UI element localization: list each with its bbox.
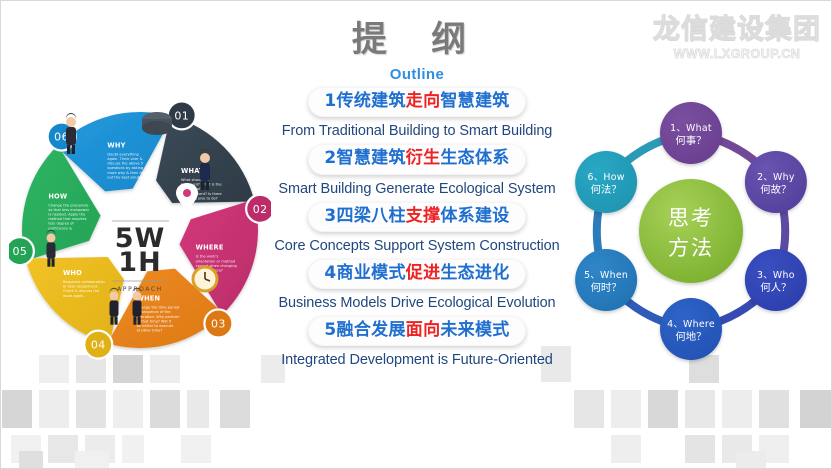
wheel-badge-03: 03 [204, 309, 232, 337]
decorative-block [187, 390, 209, 428]
outline-item-highlight: 走向 [406, 91, 441, 111]
thinking-node-label-en: 5、When [584, 270, 628, 281]
outline-item-suffix: 未来模式 [440, 320, 509, 340]
decorative-block [122, 435, 144, 463]
map-pin-icon [176, 183, 198, 210]
decorative-block [722, 390, 752, 428]
svg-text:HOW: HOW [48, 192, 68, 200]
decorative-block [759, 390, 789, 428]
thinking-node-label-en: 6、How [587, 172, 624, 183]
thinking-node-how[interactable]: 6、How何法？ [575, 151, 637, 213]
thinking-node-label-en: 4、Where [667, 319, 715, 330]
svg-text:or sequence of the: or sequence of the [137, 310, 171, 314]
decorative-block [85, 435, 115, 463]
svg-text:Check & discuss the: Check & discuss the [63, 289, 99, 293]
thinking-node-when[interactable]: 5、When何时？ [575, 249, 637, 311]
svg-text:proficiency &: proficiency & [48, 226, 72, 230]
svg-text:WHO: WHO [63, 269, 82, 277]
slide-canvas: 龙信建设集团 WWW.LXGROUP.CN 提 纲 Outline 1传统建筑走… [0, 0, 832, 469]
outline-item-suffix: 体系建设 [440, 206, 509, 226]
thinking-node-label-cn: 何法？ [591, 183, 622, 196]
outline-item-highlight: 支撑 [406, 206, 441, 226]
thinking-node-label-cn: 何人？ [760, 281, 791, 294]
svg-text:so that less manpower: so that less manpower [48, 208, 89, 212]
thinking-node-label-cn: 何事？ [675, 134, 706, 147]
decorative-block [2, 390, 32, 428]
outline-item-prefix: 5融合发展 [324, 320, 405, 340]
thinking-node-label-cn: 何时？ [591, 281, 622, 294]
outline-item-highlight: 促进 [406, 263, 441, 283]
thinking-node-who[interactable]: 3、Who何人？ [745, 249, 807, 311]
wheel-title-line2: 1H [118, 247, 161, 278]
thinking-node-label-en: 2、Why [757, 172, 795, 183]
svg-text:out the best solution: out the best solution [107, 175, 144, 179]
thinking-center-line2: 方法 [668, 236, 714, 260]
wheel-badge-04: 04 [84, 331, 112, 359]
svg-text:be better to execute: be better to execute [137, 324, 174, 328]
decorative-block [75, 451, 109, 468]
decorative-block [648, 390, 678, 428]
outline-item-highlight: 面向 [406, 320, 441, 340]
outline-item-suffix: 智慧建筑 [440, 91, 509, 111]
thinking-node-what[interactable]: 1、What何事？ [660, 102, 722, 164]
decorative-block [611, 390, 641, 428]
five-w-one-h-wheel-infographic: 010203040506 WHATWhat should beimproved?… [9, 99, 271, 361]
outline-item-suffix: 生态体系 [440, 148, 509, 168]
title-english: Outline [1, 66, 832, 83]
outline-item-english: Business Models Drive Ecological Evoluti… [259, 295, 575, 311]
outline-item-english: From Traditional Building to Smart Build… [259, 123, 575, 139]
decorative-block [611, 435, 641, 463]
thinking-method-diagram: 思考 方法 1、What何事？2、Why何故？3、Who何人？4、Where何地… [557, 97, 825, 365]
svg-text:02: 02 [253, 203, 268, 216]
svg-text:method that requires: method that requires [48, 217, 86, 221]
svg-text:03: 03 [211, 317, 226, 330]
outline-pill-2[interactable]: 2智慧建筑衍生生态体系 [308, 144, 525, 174]
svg-text:05: 05 [12, 245, 27, 258]
decorative-block [685, 390, 715, 428]
svg-text:at other time?: at other time? [137, 329, 163, 333]
wheel-badge-02: 02 [246, 195, 271, 223]
outline-pill-5[interactable]: 5融合发展面向未来模式 [308, 316, 525, 346]
outline-item-suffix: 生态进化 [440, 263, 509, 283]
decorative-block [11, 435, 41, 463]
svg-text:Response collaboration: Response collaboration [63, 280, 105, 284]
decorative-block [759, 435, 789, 463]
decorative-block [220, 390, 250, 428]
svg-text:is needed. Apply the: is needed. Apply the [48, 213, 85, 217]
wheel-badge-05: 05 [9, 237, 34, 265]
decorative-block [181, 435, 211, 463]
thinking-node-where[interactable]: 4、Where何地？ [660, 298, 722, 360]
thinking-node-label-cn: 何地？ [675, 330, 706, 343]
decorative-block [736, 451, 766, 468]
svg-text:discuss the above 5: discuss the above 5 [107, 162, 143, 166]
outline-item-prefix: 3四梁八柱 [324, 206, 405, 226]
page-title: 提 纲 Outline [1, 11, 832, 83]
decorative-block [722, 435, 752, 463]
thinking-node-label-en: 1、What [670, 123, 712, 134]
svg-text:at that time? Will it: at that time? Will it [137, 319, 172, 323]
decorative-block [19, 451, 43, 468]
svg-text:01: 01 [174, 109, 189, 122]
outline-item-prefix: 1传统建筑 [324, 91, 405, 111]
outline-pill-1[interactable]: 1传统建筑走向智慧建筑 [308, 87, 525, 117]
outline-pill-4[interactable]: 4商业模式促进生态进化 [308, 259, 525, 289]
thinking-node-label-cn: 何故？ [760, 183, 791, 196]
decorative-block [113, 390, 143, 428]
outline-list: 1传统建筑走向智慧建筑From Traditional Building to … [259, 87, 575, 373]
thinking-center-line1: 思考 [668, 206, 714, 230]
svg-text:issue again.: issue again. [63, 294, 85, 298]
outline-pill-3[interactable]: 3四梁八柱支撑体系建设 [308, 202, 525, 232]
svg-text:more why & then find: more why & then find [107, 171, 146, 175]
svg-text:orientation or method: orientation or method [196, 259, 236, 263]
cylinder-icon [142, 112, 172, 135]
svg-text:Is the work's: Is the work's [196, 255, 219, 259]
decorative-block [39, 390, 69, 428]
title-chinese: 提 纲 [1, 11, 832, 62]
outline-item-english: Integrated Development is Future-Oriente… [259, 352, 575, 368]
svg-text:Doubt everything: Doubt everything [107, 152, 138, 156]
decorative-block [150, 390, 180, 428]
svg-text:again. Think over &: again. Think over & [107, 157, 142, 161]
thinking-center-circle [639, 179, 743, 283]
thinking-node-label-en: 3、Who [757, 270, 795, 281]
outline-item-prefix: 4商业模式 [324, 263, 405, 283]
svg-text:Change the time period: Change the time period [137, 306, 180, 310]
svg-text:04: 04 [91, 339, 106, 352]
clock-icon [193, 267, 217, 291]
outline-item-prefix: 2智慧建筑 [324, 148, 405, 168]
svg-text:WHY: WHY [107, 141, 125, 149]
decorative-block [48, 435, 78, 463]
outline-item-highlight: 衍生 [406, 148, 441, 168]
svg-text:WHERE: WHERE [196, 244, 224, 252]
svg-text:less degree of: less degree of [48, 222, 74, 226]
svg-text:Change the procedure: Change the procedure [48, 203, 88, 207]
outline-item-english: Core Concepts Support System Constructio… [259, 238, 575, 254]
decorative-block [76, 390, 106, 428]
decorative-block [800, 390, 832, 428]
thinking-node-why[interactable]: 2、Why何故？ [745, 151, 807, 213]
svg-text:questions by asking: questions by asking [107, 166, 143, 170]
outline-item-english: Smart Building Generate Ecological Syste… [259, 181, 575, 197]
decorative-block [574, 390, 604, 428]
svg-text:operation. Why perform: operation. Why perform [137, 315, 181, 319]
svg-text:or task assignment.: or task assignment. [63, 285, 99, 289]
decorative-block [685, 435, 715, 463]
